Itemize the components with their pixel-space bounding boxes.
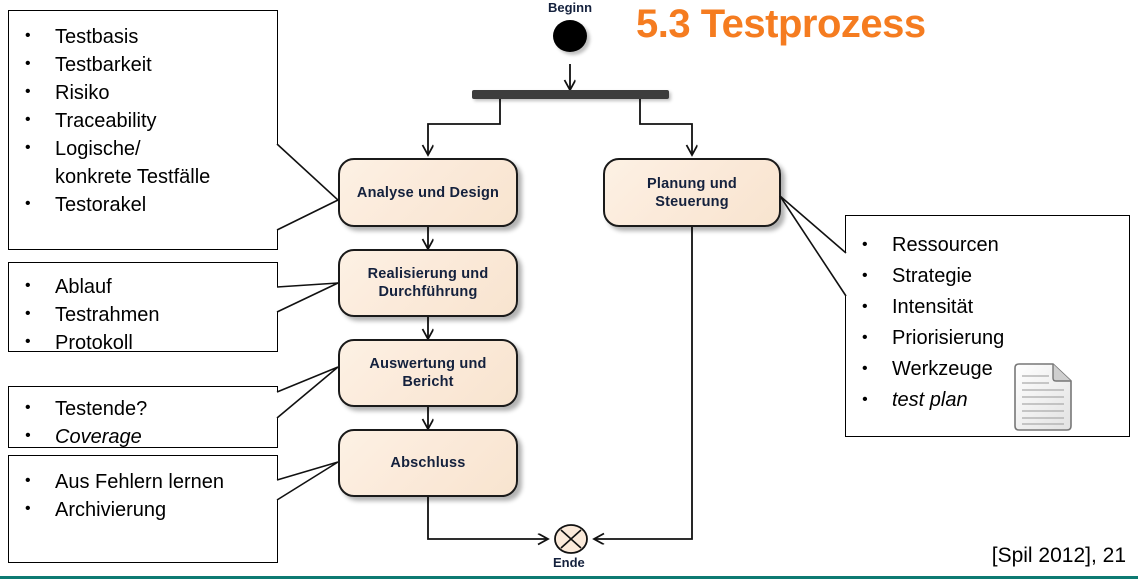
list-item: Risiko bbox=[9, 79, 277, 107]
activity-analyse-label: Analyse und Design bbox=[357, 184, 499, 202]
citation: [Spil 2012], 21 bbox=[992, 544, 1126, 568]
callout-auswertung-notes: Testende? Coverage bbox=[8, 386, 278, 448]
list-item: Testende? bbox=[9, 395, 277, 423]
list-item: Aus Fehlern lernen bbox=[9, 468, 277, 496]
activity-planung-label: Planung und Steuerung bbox=[647, 175, 737, 211]
label-line-1: Realisierung und bbox=[368, 266, 489, 282]
activity-abschluss[interactable]: Abschluss bbox=[338, 429, 518, 497]
callout-analyse-list: Testbasis Testbarkeit Risiko Traceabilit… bbox=[9, 11, 277, 219]
callout-realisierung-notes: Ablauf Testrahmen Protokoll bbox=[8, 262, 278, 352]
list-item: Protokoll bbox=[9, 329, 277, 357]
list-item: Logische/ bbox=[9, 135, 277, 163]
list-item: Traceability bbox=[9, 107, 277, 135]
label-line-2: Durchführung bbox=[378, 284, 477, 300]
activity-realisierung[interactable]: Realisierung und Durchführung bbox=[338, 249, 518, 317]
list-item: konkrete Testfälle bbox=[9, 163, 277, 191]
slide-canvas: 5.3 Testprozess Beginn Analyse und Desig… bbox=[0, 0, 1138, 586]
activity-auswertung[interactable]: Auswertung und Bericht bbox=[338, 339, 518, 407]
activity-analyse[interactable]: Analyse und Design bbox=[338, 158, 518, 227]
start-node-label: Beginn bbox=[548, 0, 592, 15]
list-item: Archivierung bbox=[9, 496, 277, 524]
callout-abschluss-list: Aus Fehlern lernen Archivierung bbox=[9, 456, 277, 524]
callout-planung-notes: Ressourcen Strategie Intensität Priorisi… bbox=[845, 215, 1130, 437]
list-item: Werkzeuge bbox=[846, 354, 1129, 385]
callout-planung-list: Ressourcen Strategie Intensität Priorisi… bbox=[846, 216, 1129, 416]
callout-analyse-notes: Testbasis Testbarkeit Risiko Traceabilit… bbox=[8, 10, 278, 250]
list-item: Priorisierung bbox=[846, 323, 1129, 354]
fork-bar bbox=[472, 90, 669, 99]
end-node bbox=[551, 521, 591, 557]
list-item: Intensität bbox=[846, 292, 1129, 323]
document-icon bbox=[1009, 360, 1077, 438]
label-line-1: Planung und bbox=[647, 176, 737, 192]
activity-auswertung-label: Auswertung und Bericht bbox=[369, 355, 486, 391]
footer-divider bbox=[0, 576, 1138, 579]
callout-auswertung-list: Testende? Coverage bbox=[9, 387, 277, 451]
list-item: Strategie bbox=[846, 261, 1129, 292]
activity-abschluss-label: Abschluss bbox=[390, 454, 465, 472]
label-line-1: Auswertung und bbox=[369, 356, 486, 372]
list-item: Ressourcen bbox=[846, 230, 1129, 261]
activity-realisierung-label: Realisierung und Durchführung bbox=[368, 265, 489, 301]
start-node bbox=[553, 20, 587, 52]
callout-abschluss-notes: Aus Fehlern lernen Archivierung bbox=[8, 455, 278, 563]
list-item: Ablauf bbox=[9, 273, 277, 301]
list-item: Testrahmen bbox=[9, 301, 277, 329]
list-item: test plan bbox=[846, 385, 1129, 416]
end-node-label: Ende bbox=[553, 555, 585, 570]
callout-realisierung-list: Ablauf Testrahmen Protokoll bbox=[9, 263, 277, 357]
list-item: Coverage bbox=[9, 423, 277, 451]
list-item: Testorakel bbox=[9, 191, 277, 219]
list-item: Testbarkeit bbox=[9, 51, 277, 79]
label-line-2: Steuerung bbox=[655, 194, 729, 210]
label-line-2: Bericht bbox=[402, 374, 453, 390]
activity-planung[interactable]: Planung und Steuerung bbox=[603, 158, 781, 227]
list-item: Testbasis bbox=[9, 23, 277, 51]
